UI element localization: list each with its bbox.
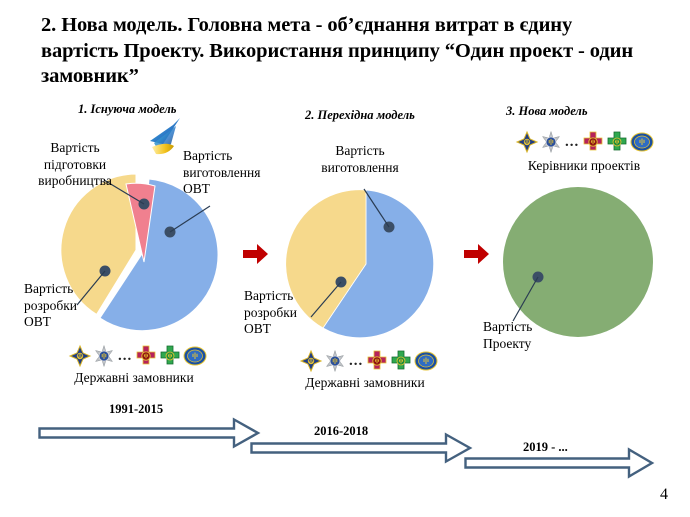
timeline-arrow-1 xyxy=(38,417,260,449)
label-project-cost: Вартість Проекту xyxy=(483,319,573,352)
emblem-crimson-cross-icon-2 xyxy=(366,350,388,372)
label-development-cost: Вартість розробки ОВТ xyxy=(24,281,104,331)
emblem-caption-state-customers-2: Державні замовники xyxy=(300,375,430,391)
label-development-cost-2: Вартість розробки ОВТ xyxy=(244,288,324,338)
panel-header-new-model: 3. Нова модель xyxy=(506,104,588,119)
emblem-sbu-cross-icon-2 xyxy=(300,350,322,372)
emblem-green-cross-icon-2 xyxy=(390,350,412,372)
emblem-blue-oval-icon-3 xyxy=(630,131,654,153)
emblem-sbu-cross-icon xyxy=(69,345,91,367)
slide-title: 2. Нова модель. Головна мета - об’єднанн… xyxy=(41,13,653,90)
emblem-silver-star-icon-2 xyxy=(324,350,346,372)
emblem-sbu-cross-icon-3 xyxy=(516,131,538,153)
emblem-ellipsis-3: ... xyxy=(564,137,580,147)
red-arrow-icon-1 xyxy=(243,243,269,265)
emblem-crimson-cross-icon xyxy=(135,345,157,367)
label-manufacturing-cost-2: Вартість виготовлення xyxy=(305,143,415,176)
emblem-blue-oval-icon-2 xyxy=(414,350,438,372)
pie-slice-project-cost xyxy=(503,187,653,337)
emblem-green-cross-icon xyxy=(159,345,181,367)
page-number: 4 xyxy=(660,486,668,504)
panel-header-existing-model: 1. Існуюча модель xyxy=(78,102,177,117)
emblem-silver-star-icon xyxy=(93,345,115,367)
timeline-label-2: 2016-2018 xyxy=(314,424,368,439)
emblem-caption-state-customers-1: Державні замовники xyxy=(69,370,199,386)
emblem-green-cross-icon-3 xyxy=(606,131,628,153)
label-production-preparation-cost: Вартість підготовки виробництва xyxy=(25,140,125,190)
slide-root: 2. Нова модель. Головна мета - об’єднанн… xyxy=(0,0,690,517)
emblem-blue-oval-icon xyxy=(183,345,207,367)
emblem-row-project-managers: ... xyxy=(516,131,654,153)
emblem-ellipsis-2: ... xyxy=(348,356,364,366)
panel-header-transition-model: 2. Перехідна модель xyxy=(305,108,415,123)
timeline-label-3: 2019 - ... xyxy=(523,440,568,455)
emblem-row-state-customers-2: ... xyxy=(300,350,438,372)
timeline-label-1: 1991-2015 xyxy=(109,402,163,417)
label-manufacturing-cost: Вартість виготовлення ОВТ xyxy=(183,148,278,198)
emblem-caption-project-managers: Керівники проектів xyxy=(509,158,659,174)
emblem-row-state-customers: ... xyxy=(69,345,207,367)
emblem-crimson-cross-icon-3 xyxy=(582,131,604,153)
emblem-silver-star-icon-3 xyxy=(540,131,562,153)
emblem-ellipsis: ... xyxy=(117,351,133,361)
red-arrow-icon-2 xyxy=(464,243,490,265)
